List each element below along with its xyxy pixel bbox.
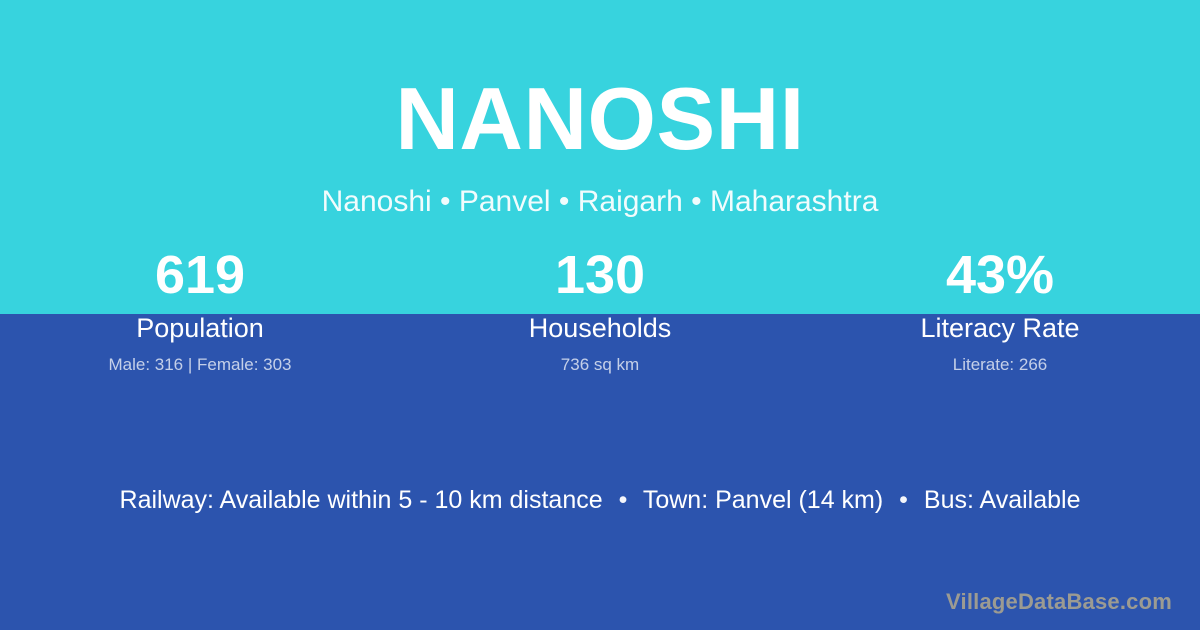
page-title: NANOSHI bbox=[0, 0, 1200, 163]
stat-literacy-rate: 43% Literacy Rate Literate: 266 bbox=[800, 246, 1200, 376]
stat-label-population: Population bbox=[0, 304, 400, 344]
stats-row: 619 Population Male: 316 | Female: 303 1… bbox=[0, 246, 1200, 376]
stat-label-households: Households bbox=[400, 304, 800, 344]
stat-value-households: 130 bbox=[400, 246, 800, 304]
breadcrumb: Nanoshi • Panvel • Raigarh • Maharashtra bbox=[0, 163, 1200, 219]
stat-detail-population: Male: 316 | Female: 303 bbox=[0, 344, 400, 376]
facility-town: Town: Panvel (14 km) bbox=[643, 486, 883, 514]
card-header: NANOSHI Nanoshi • Panvel • Raigarh • Mah… bbox=[0, 0, 1200, 219]
stat-population: 619 Population Male: 316 | Female: 303 bbox=[0, 246, 400, 376]
stat-value-literacy-rate: 43% bbox=[800, 246, 1200, 304]
village-info-card: NANOSHI Nanoshi • Panvel • Raigarh • Mah… bbox=[0, 0, 1200, 630]
facility-railway: Railway: Available within 5 - 10 km dist… bbox=[120, 486, 603, 514]
facilities-line: Railway: Available within 5 - 10 km dist… bbox=[0, 483, 1200, 517]
stat-label-literacy-rate: Literacy Rate bbox=[800, 304, 1200, 344]
facility-separator-1: • bbox=[610, 486, 637, 514]
facility-separator-2: • bbox=[890, 486, 917, 514]
facility-bus: Bus: Available bbox=[924, 486, 1081, 514]
stat-value-population: 619 bbox=[0, 246, 400, 304]
stat-households: 130 Households 736 sq km bbox=[400, 246, 800, 376]
site-watermark: VillageDataBase.com bbox=[946, 588, 1172, 616]
stat-detail-households: 736 sq km bbox=[400, 344, 800, 376]
stat-detail-literacy-rate: Literate: 266 bbox=[800, 344, 1200, 376]
